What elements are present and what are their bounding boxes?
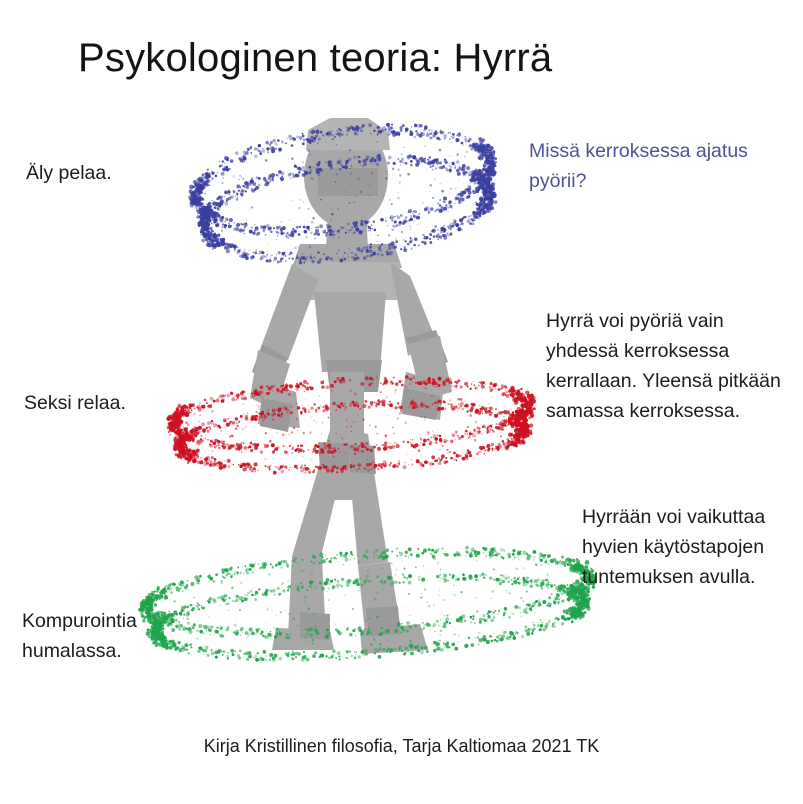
text-layer: Psykologinen teoria: Hyrrä Äly pelaa. Se…	[0, 0, 803, 804]
slide-canvas: Psykologinen teoria: Hyrrä Äly pelaa. Se…	[0, 0, 803, 804]
footer-caption: Kirja Kristillinen filosofia, Tarja Kalt…	[0, 736, 803, 757]
note-middle: Hyrrä voi pyöriä vain yhdessä kerroksess…	[546, 306, 801, 426]
note-question: Missä kerroksessa ajatus pyörii?	[529, 136, 791, 196]
label-sex: Seksi relaa.	[24, 388, 126, 418]
label-intellect: Äly pelaa.	[26, 158, 112, 188]
page-title: Psykologinen teoria: Hyrrä	[78, 36, 552, 81]
label-stumbling: Kompurointia humalassa.	[22, 606, 212, 666]
note-lower: Hyrrään voi vaikuttaa hyvien käytöstapoj…	[582, 502, 797, 592]
